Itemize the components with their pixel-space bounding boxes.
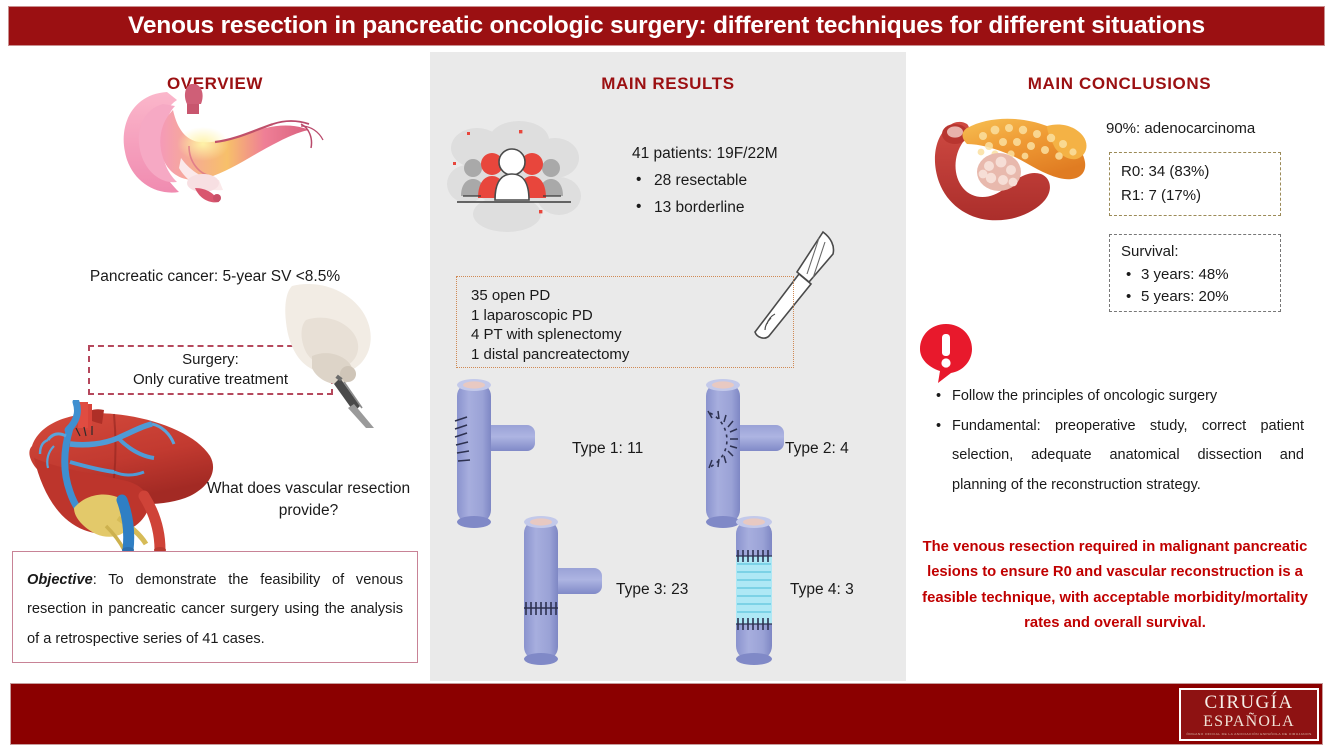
poster-title-bar: Venous resection in pancreatic oncologic… — [8, 6, 1325, 46]
list-item: 5 years: 20% — [1141, 286, 1280, 309]
list-item: 13 borderline — [654, 199, 882, 217]
resection-margin-box: R0: 34 (83%) R1: 7 (17%) — [1109, 152, 1281, 216]
survival-box: Survival: 3 years: 48% 5 years: 20% — [1109, 234, 1281, 312]
survival-title: Survival: — [1121, 241, 1280, 264]
patient-statistics: 41 patients: 19F/22M 28 resectable 13 bo… — [632, 145, 882, 226]
procedure-line: 1 distal pancreatectomy — [471, 345, 793, 365]
pancreas-tumor-illustration — [925, 108, 1095, 233]
vein-type-1-label: Type 1: 11 — [572, 440, 643, 458]
final-statement: The venous resection required in maligna… — [920, 535, 1310, 637]
adenocarcinoma-label: 90%: adenocarcinoma — [1106, 120, 1255, 137]
procedures-box: 35 open PD 1 laparoscopic PD 4 PT with s… — [456, 276, 794, 368]
list-item: Follow the principles of oncologic surge… — [952, 382, 1304, 412]
objective-keyword: Objective — [27, 572, 93, 588]
logo-tagline: ÓRGANO OFICIAL DE LA ASOCIACIÓN ESPAÑOLA… — [1186, 732, 1311, 736]
list-item: Fundamental: preoperative study, correct… — [952, 412, 1304, 501]
procedure-line: 4 PT with splenectomy — [471, 325, 793, 345]
alert-exclamation-icon — [918, 322, 974, 384]
vein-type-2-label: Type 2: 4 — [785, 440, 849, 458]
logo-line-1: CIRUGÍA — [1205, 693, 1294, 713]
surgery-line-1: Surgery: — [182, 350, 239, 370]
page-title: Venous resection in pancreatic oncologic… — [128, 12, 1205, 40]
main-results-heading: MAIN RESULTS — [430, 74, 906, 94]
r1-value: R1: 7 (17%) — [1121, 184, 1280, 208]
footer-bar — [10, 683, 1323, 745]
pancreas-stomach-illustration — [95, 80, 335, 210]
procedure-line: 35 open PD — [471, 286, 793, 306]
surgeon-hand-scalpel-illustration — [262, 278, 392, 428]
procedure-line: 1 laparoscopic PD — [471, 306, 793, 326]
objective-text: Objective: To demonstrate the feasibilit… — [27, 566, 403, 654]
cirugia-espanola-logo: CIRUGÍA ESPAÑOLA ÓRGANO OFICIAL DE LA AS… — [1179, 688, 1319, 741]
patients-total: 41 patients: 19F/22M — [632, 145, 882, 163]
vascular-question: What does vascular resection provide? — [206, 478, 411, 522]
conclusion-bullets: Follow the principles of oncologic surge… — [952, 382, 1304, 501]
vein-type-1-diagram — [443, 375, 563, 535]
logo-line-2: ESPAÑOLA — [1203, 713, 1295, 731]
survival-bullet-list: 3 years: 48% 5 years: 20% — [1121, 264, 1280, 309]
liver-vasculature-illustration — [18, 400, 228, 560]
vein-type-4-label: Type 4: 3 — [790, 581, 854, 599]
main-conclusions-heading: MAIN CONCLUSIONS — [906, 74, 1333, 94]
vein-type-3-diagram — [510, 512, 630, 672]
objective-box: Objective: To demonstrate the feasibilit… — [12, 551, 418, 663]
list-item: 28 resectable — [654, 172, 882, 190]
list-item: 3 years: 48% — [1141, 264, 1280, 287]
patient-group-icon — [447, 118, 582, 238]
patients-bullet-list: 28 resectable 13 borderline — [632, 172, 882, 217]
vein-type-3-label: Type 3: 23 — [616, 581, 688, 599]
r0-value: R0: 34 (83%) — [1121, 160, 1280, 184]
